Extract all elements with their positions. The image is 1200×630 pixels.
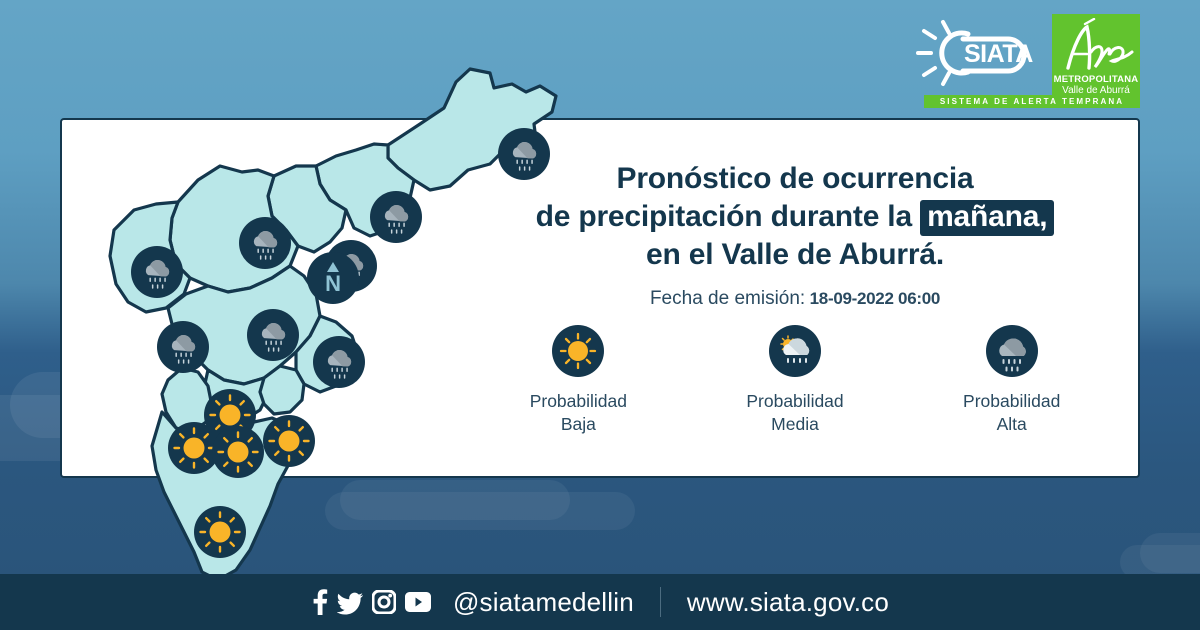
sun-icon — [552, 325, 604, 377]
legend-label-alta-line2: Alta — [997, 414, 1027, 434]
legend-label-baja-line2: Baja — [561, 414, 596, 434]
decorative-cloud-bottom-right-puff — [1140, 533, 1200, 573]
cloud-rain-icon — [986, 325, 1038, 377]
legend-item-alta: Probabilidad Alta — [903, 325, 1120, 436]
map-marker-rain — [370, 191, 422, 243]
area-metropolitana-logo: METROPOLITANA Valle de Aburrá — [1052, 14, 1140, 102]
map-marker-rain — [239, 217, 291, 269]
tagline-banner: SISTEMA DE ALERTA TEMPRANA — [924, 95, 1140, 108]
map-marker-rain — [157, 321, 209, 373]
valle-de-aburra-map: N — [58, 40, 578, 585]
sun-cloud-rain-icon — [769, 325, 821, 377]
headline-line2: de precipitación durante la mañana, — [470, 198, 1120, 236]
issue-date: Fecha de emisión: 18-09-2022 06:00 — [470, 288, 1120, 310]
siata-logo: SIATA — [916, 14, 1044, 92]
area-script-icon — [1052, 18, 1140, 76]
headline-line2-pre: de precipitación durante la — [536, 200, 912, 233]
footer-bar: @siatamedellin www.siata.gov.co — [0, 574, 1200, 630]
legend-label-media: Probabilidad Media — [746, 390, 843, 436]
issue-date-label: Fecha de emisión: — [650, 288, 805, 309]
map-marker-rain — [313, 336, 365, 388]
legend-label-baja-line1: Probabilidad — [530, 391, 627, 411]
page-title: Pronóstico de ocurrencia de precipitació… — [470, 160, 1120, 274]
map-marker-sun — [263, 415, 315, 467]
headline-highlight-chip: mañana, — [920, 200, 1054, 236]
youtube-icon[interactable] — [405, 592, 431, 612]
sun-cloud-logo-icon: SIATA — [916, 14, 1044, 92]
compass-label: N — [325, 271, 341, 296]
probability-legend: Probabilidad Baja — [470, 325, 1120, 436]
logo-group: SIATA METROPOLITANA Valle de Aburrá — [916, 14, 1140, 102]
tagline-text: SISTEMA DE ALERTA TEMPRANA — [940, 97, 1124, 106]
legend-label-alta-line1: Probabilidad — [963, 391, 1060, 411]
legend-label-media-line1: Probabilidad — [746, 391, 843, 411]
map-marker-sun — [168, 422, 220, 474]
infographic-canvas: SIATA METROPOLITANA Valle de Aburrá SIST… — [0, 0, 1200, 630]
headline-line1: Pronóstico de ocurrencia — [470, 160, 1120, 198]
north-arrow-icon: N — [307, 252, 359, 304]
website-url[interactable]: www.siata.gov.co — [687, 587, 889, 618]
legend-label-alta: Probabilidad Alta — [963, 390, 1060, 436]
map-marker-sun — [212, 426, 264, 478]
legend-label-baja: Probabilidad Baja — [530, 390, 627, 436]
instagram-icon[interactable] — [372, 590, 396, 614]
map-marker-sun — [194, 506, 246, 558]
headline-line3: en el Valle de Aburrá. — [470, 236, 1120, 274]
legend-item-media: Probabilidad Media — [687, 325, 904, 436]
legend-item-baja: Probabilidad Baja — [470, 325, 687, 436]
facebook-icon[interactable] — [311, 589, 328, 615]
issue-date-value: 18-09-2022 06:00 — [810, 289, 940, 308]
footer-separator — [660, 587, 661, 617]
social-handle[interactable]: @siatamedellin — [453, 587, 634, 618]
siata-wordmark: SIATA — [964, 40, 1033, 68]
headline-block: Pronóstico de ocurrencia de precipitació… — [470, 160, 1120, 310]
legend-label-media-line2: Media — [771, 414, 819, 434]
map-marker-rain — [131, 246, 183, 298]
twitter-icon[interactable] — [337, 589, 363, 615]
social-icons — [311, 589, 431, 615]
map-marker-rain — [247, 309, 299, 361]
